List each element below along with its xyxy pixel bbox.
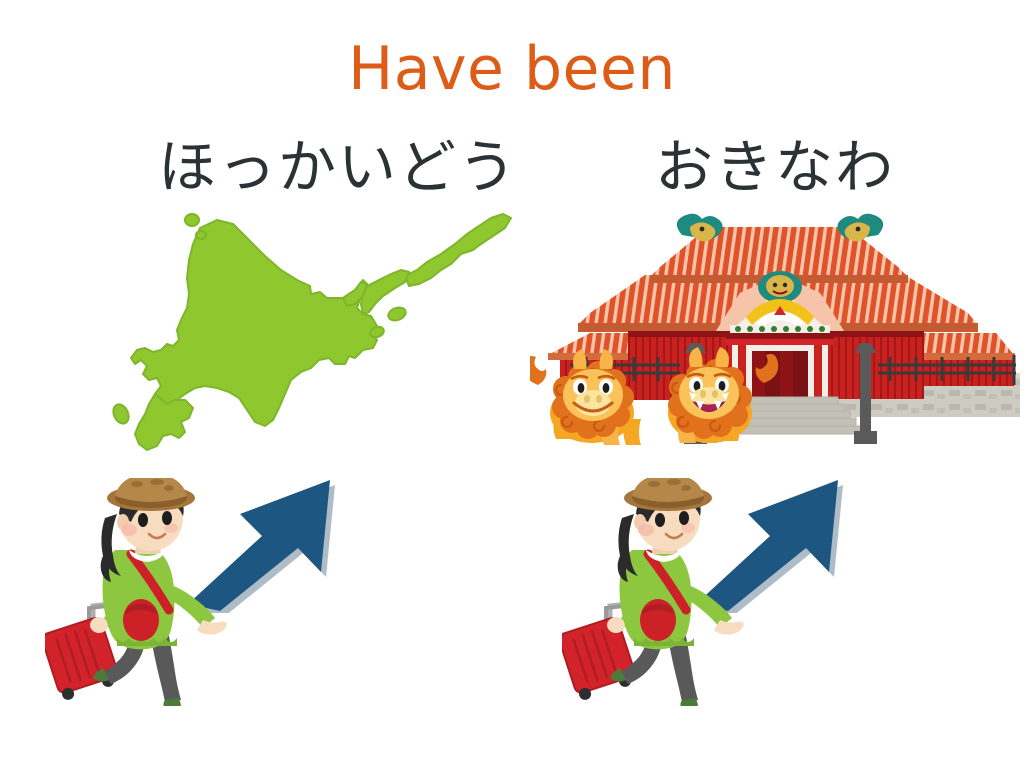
hokkaido-map-illustration — [105, 208, 535, 466]
page-title: Have been — [0, 38, 1024, 101]
caption-okinawa: おきなわ — [655, 138, 895, 196]
shuri-castle-illustration — [530, 205, 1020, 450]
traveler-illustration-left — [45, 478, 240, 706]
slide-canvas: Have been ほっかいどう おきなわ — [0, 0, 1024, 768]
caption-hokkaido: ほっかいどう — [158, 138, 518, 196]
traveler-illustration-right — [562, 478, 757, 706]
